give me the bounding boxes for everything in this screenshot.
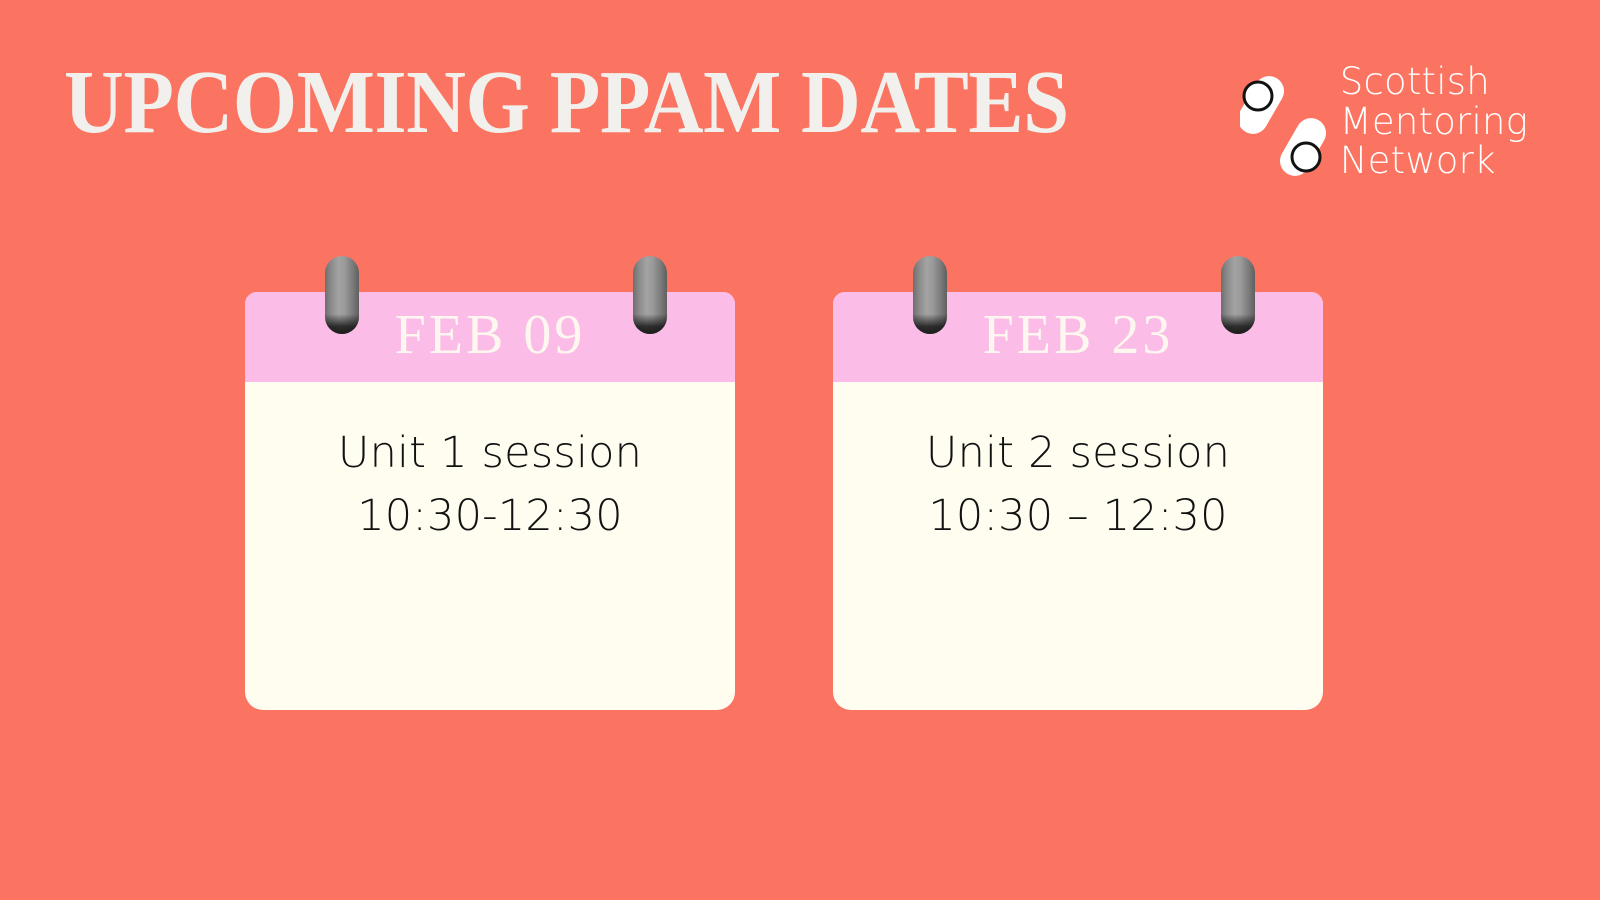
binder-ring-icon — [325, 256, 359, 334]
calendar-card[interactable]: FEB 09 Unit 1 session 10:30-12:30 — [245, 292, 735, 710]
calendar-card-inner: FEB 09 Unit 1 session 10:30-12:30 — [245, 292, 735, 710]
calendar-card-body: Unit 1 session 10:30-12:30 — [245, 382, 735, 710]
logo-text-line-1: Scottish — [1340, 62, 1528, 102]
calendar-card-session-time: 10:30-12:30 — [269, 485, 711, 548]
logo-text: Scottish Mentoring Network — [1340, 62, 1528, 181]
binder-ring-icon — [913, 256, 947, 334]
calendar-card-body: Unit 2 session 10:30 – 12:30 — [833, 382, 1323, 710]
logo: Scottish Mentoring Network — [1240, 62, 1528, 186]
calendar-card[interactable]: FEB 23 Unit 2 session 10:30 – 12:30 — [833, 292, 1323, 710]
calendar-card-inner: FEB 23 Unit 2 session 10:30 – 12:30 — [833, 292, 1323, 710]
calendar-card-session-time: 10:30 – 12:30 — [857, 485, 1299, 548]
page-title: UPCOMING PPAM DATES — [64, 58, 1069, 148]
calendar-card-list: FEB 09 Unit 1 session 10:30-12:30 FEB 23… — [245, 292, 1323, 710]
calendar-card-date: FEB 23 — [983, 307, 1174, 367]
logo-text-line-2: Mentoring — [1340, 102, 1528, 142]
calendar-card-session-label: Unit 2 session — [857, 422, 1299, 485]
calendar-card-date: FEB 09 — [395, 307, 586, 367]
calendar-card-session-label: Unit 1 session — [269, 422, 711, 485]
logo-text-line-3: Network — [1340, 141, 1528, 181]
binder-ring-icon — [633, 256, 667, 334]
scottish-mentoring-network-logo-mark — [1240, 68, 1326, 186]
binder-ring-icon — [1221, 256, 1255, 334]
